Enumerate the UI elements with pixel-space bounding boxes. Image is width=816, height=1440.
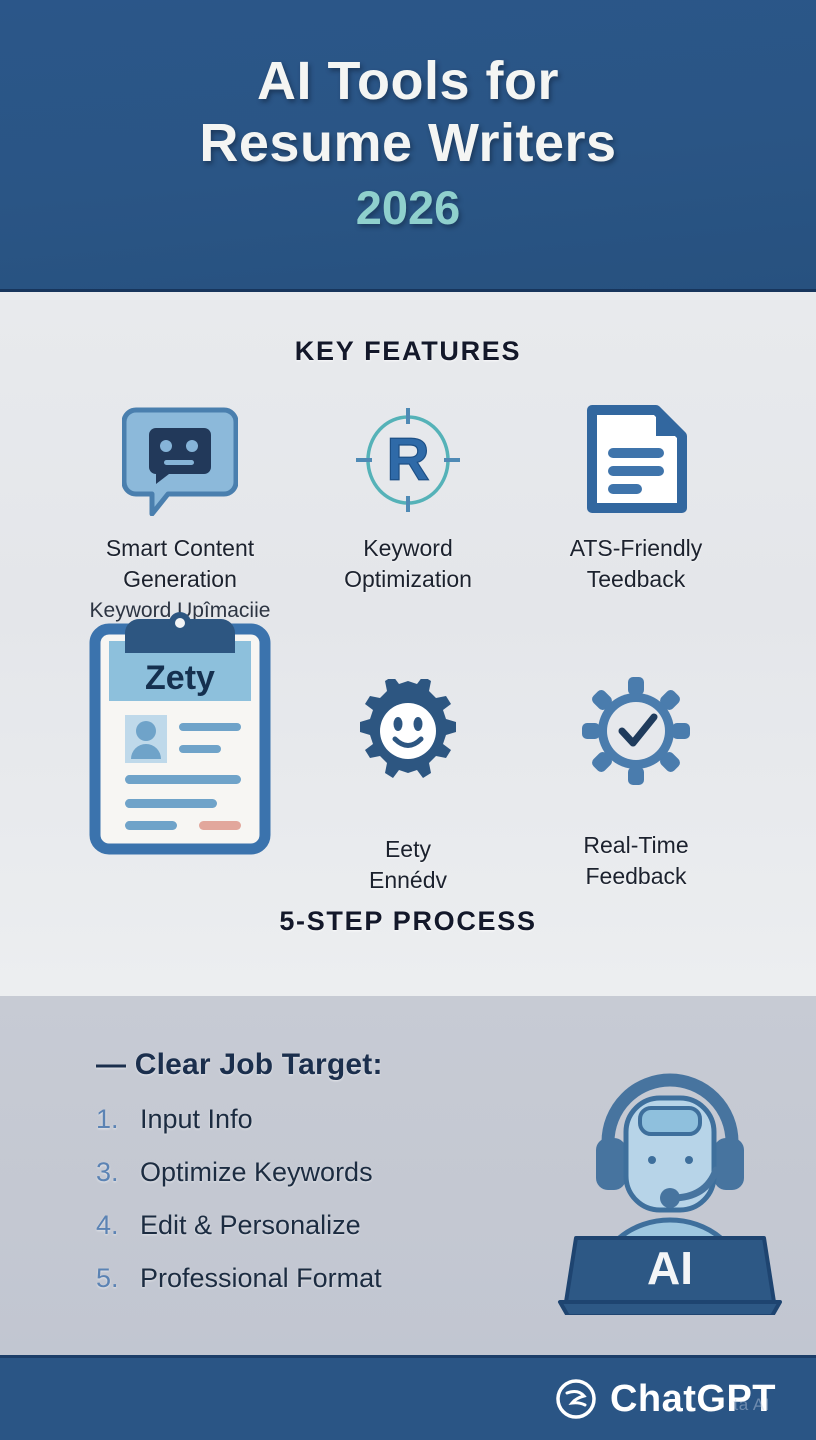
header-title-line-1: AI Tools for	[257, 51, 559, 113]
brand-lockup: ChatGPT ta AI	[554, 1377, 776, 1421]
feature-card-clipboard-zety: Zety	[66, 650, 294, 812]
gear-smiley-face-icon	[356, 650, 460, 812]
svg-text:R: R	[386, 426, 429, 493]
feature-label-gear-smiley: Eety Ennédv	[369, 834, 447, 895]
feature-label-smart-content: Smart Content Generation	[106, 533, 254, 594]
feature-card-smart-content: Smart Content Generation Keyword Upîmaci…	[66, 401, 294, 624]
step-number: 1.	[96, 1104, 140, 1135]
step-label: Input Info	[140, 1104, 253, 1135]
step-number: 3.	[96, 1157, 140, 1188]
feature-label-keyword-optimization: Keyword Optimization	[344, 533, 472, 594]
feature-card-keyword-optimization: R Keyword Optimization	[294, 401, 522, 624]
list-item: 3. Optimize Keywords	[96, 1157, 540, 1188]
clipboard-resume-icon: Zety	[87, 650, 273, 812]
footer-bar: ChatGPT ta AI	[0, 1355, 816, 1440]
process-steps-list: 1. Input Info 3. Optimize Keywords 4. Ed…	[96, 1104, 540, 1294]
header-year: 2026	[356, 177, 461, 238]
ai-robot-laptop-icon: AI	[550, 1050, 790, 1315]
features-row-1: Smart Content Generation Keyword Upîmaci…	[0, 401, 816, 624]
five-step-process-heading: 5-STEP PROCESS	[0, 906, 816, 937]
feature-card-real-time-feedback: Real-Time Feedback	[522, 650, 750, 891]
process-illustration-column: AI	[540, 1026, 816, 1355]
step-label: Edit & Personalize	[140, 1210, 361, 1241]
chatgpt-logo-icon	[554, 1377, 598, 1421]
chat-bubble-robot-icon	[122, 401, 238, 519]
robot-ai-label: AI	[647, 1242, 693, 1294]
process-title: — Clear Job Target:	[96, 1048, 540, 1082]
gear-checkmark-icon	[580, 650, 692, 812]
process-list-column: — Clear Job Target: 1. Input Info 3. Opt…	[0, 1026, 540, 1355]
feature-label-real-time-feedback: Real-Time Feedback	[583, 830, 688, 891]
key-features-heading: KEY FEATURES	[0, 336, 816, 367]
step-label: Optimize Keywords	[140, 1157, 373, 1188]
list-item: 4. Edit & Personalize	[96, 1210, 540, 1241]
target-crosshair-r-icon: R	[352, 401, 464, 519]
process-section: — Clear Job Target: 1. Input Info 3. Opt…	[0, 996, 816, 1355]
features-row-2: Zety	[0, 650, 816, 895]
brand-name: ChatGPT	[610, 1378, 776, 1421]
list-item: 1. Input Info	[96, 1104, 540, 1135]
svg-text:Zety: Zety	[145, 659, 215, 697]
step-number: 4.	[96, 1210, 140, 1241]
document-lines-icon	[582, 401, 690, 519]
step-number: 5.	[96, 1263, 140, 1294]
header-banner: AI Tools for Resume Writers 2026	[0, 0, 816, 292]
infographic-poster: AI Tools for Resume Writers 2026 KEY FEA…	[0, 0, 816, 1440]
key-features-section: KEY FEATURES Smart Content Generation Ke…	[0, 292, 816, 996]
list-item: 5. Professional Format	[96, 1263, 540, 1294]
feature-card-gear-smiley: Eety Ennédv	[294, 650, 522, 895]
feature-card-ats-friendly: ATS-Friendly Teedback	[522, 401, 750, 624]
step-label: Professional Format	[140, 1263, 382, 1294]
feature-label-ats-friendly: ATS-Friendly Teedback	[570, 533, 703, 594]
header-title-line-2: Resume Writers	[199, 113, 616, 175]
